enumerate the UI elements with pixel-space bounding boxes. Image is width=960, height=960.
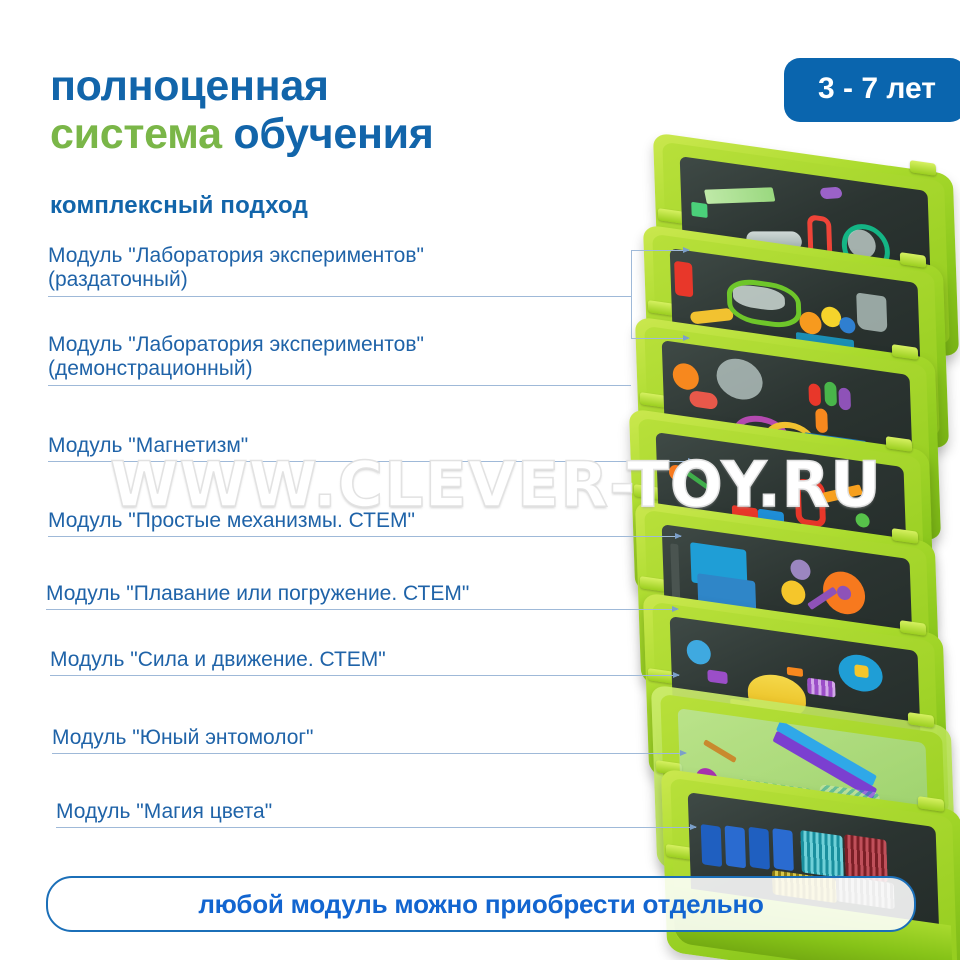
- toolbox-8: [664, 790, 960, 960]
- module-rule: [56, 827, 696, 828]
- module-label: Модуль "Простые механизмы. СТЕМ": [48, 509, 681, 536]
- tool-filter-holder-3: [749, 827, 770, 870]
- module-label: Модуль "Магнетизм": [48, 434, 694, 461]
- module-label: Модуль "Лаборатория экспериментов" (демо…: [48, 333, 631, 385]
- tool-beaker-clear: [856, 292, 887, 332]
- module-label: Модуль "Сила и движение. СТЕМ": [50, 648, 679, 675]
- color-filter-stack-teal: [800, 830, 843, 878]
- tool-peg-green: [824, 381, 837, 407]
- tool-reel-hub-yellow: [854, 664, 868, 678]
- tool-disc-yellow: [821, 305, 842, 328]
- module-rule: [50, 675, 679, 676]
- poster-root: WWW.CLEVER-TOY.RU полноценная система об…: [0, 0, 960, 960]
- module-row-4[interactable]: Модуль "Простые механизмы. СТЕМ": [48, 509, 681, 537]
- tool-clip-purple: [707, 669, 727, 684]
- module-row-6[interactable]: Модуль "Сила и движение. СТЕМ": [50, 648, 679, 676]
- module-row-5[interactable]: Модуль "Плавание или погружение. СТЕМ": [46, 582, 678, 610]
- bracket-vertical: [631, 250, 632, 339]
- module-rule: [48, 461, 694, 462]
- module-row-8[interactable]: Модуль "Магия цвета": [56, 800, 696, 828]
- module-rule: [48, 296, 631, 297]
- tool-peg-purple: [838, 387, 851, 411]
- module-label: Модуль "Лаборатория экспериментов" (разд…: [48, 244, 631, 296]
- tool-disc-orange-1: [799, 310, 822, 335]
- bottom-banner-text: любой модуль можно приобрести отдельно: [198, 889, 763, 920]
- module-group-bracket: [631, 250, 693, 340]
- module-label: Модуль "Магия цвета": [56, 800, 696, 827]
- tool-filter-holder-2: [725, 825, 746, 868]
- module-row-2[interactable]: Модуль "Лаборатория экспериментов" (демо…: [48, 333, 631, 386]
- age-badge: 3 - 7 лет: [784, 58, 960, 122]
- tool-peg-red: [808, 383, 821, 407]
- module-row-1[interactable]: Модуль "Лаборатория экспериментов" (разд…: [48, 244, 631, 297]
- tool-disc-grey: [790, 558, 811, 581]
- tool-filter-holder-4: [772, 828, 793, 871]
- bracket-arm-top: [631, 250, 689, 251]
- module-list: Модуль "Лаборатория экспериментов" (разд…: [0, 0, 700, 960]
- tool-rod-orange: [787, 667, 803, 677]
- tool-horseshoe-magnet: [794, 478, 826, 528]
- module-row-3[interactable]: Модуль "Магнетизм": [48, 434, 694, 462]
- tool-pulley-yellow: [781, 579, 806, 607]
- tool-net-handle: [703, 739, 737, 763]
- bottom-banner: любой модуль можно приобрести отдельно: [46, 876, 916, 932]
- module-rule: [48, 385, 631, 386]
- module-row-7[interactable]: Модуль "Юный энтомолог": [52, 726, 686, 754]
- module-label: Модуль "Юный энтомолог": [52, 726, 686, 753]
- module-rule: [46, 609, 678, 610]
- module-label: Модуль "Плавание или погружение. СТЕМ": [46, 582, 678, 609]
- tool-cap-purple: [819, 187, 843, 200]
- tool-flask-clear: [716, 356, 763, 403]
- module-rule: [52, 753, 686, 754]
- tool-disc-blue: [839, 316, 856, 334]
- tool-filter-holder-1: [701, 824, 722, 867]
- tool-wand-orange: [822, 484, 863, 502]
- module-rule: [48, 536, 681, 537]
- tool-spring-purple: [807, 678, 836, 698]
- tool-ruler: [704, 187, 775, 204]
- bracket-arm-bottom: [631, 338, 689, 339]
